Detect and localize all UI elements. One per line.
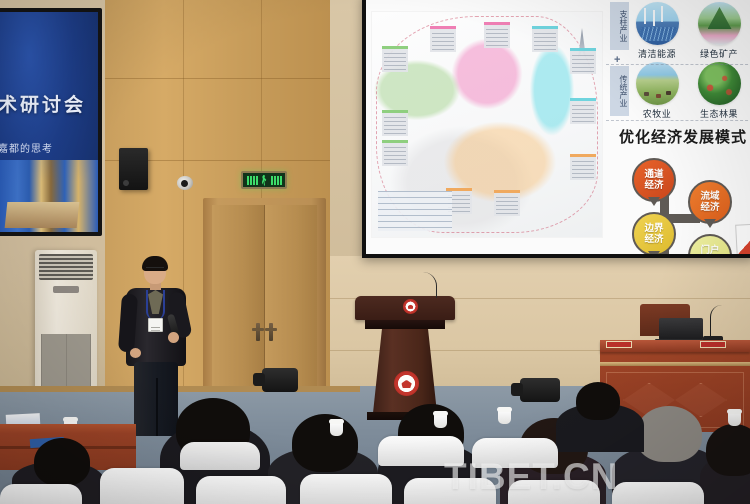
institution-emblem-icon (394, 371, 419, 396)
audience-chair[interactable] (0, 484, 82, 504)
door-leaf-right[interactable] (265, 205, 318, 386)
economy-model-diagram: 通道 经济 流域 经济 边界 经济 门户 经济 (612, 150, 750, 254)
bubble-line-1: 门户 (700, 245, 719, 254)
photographer-head (576, 382, 620, 420)
attendee-head (34, 438, 90, 486)
tea-cup (498, 410, 511, 424)
wall-speaker-icon (119, 148, 148, 190)
ac-grill (39, 254, 93, 280)
attendee-head (292, 414, 358, 472)
dslr-camera-icon (520, 378, 560, 402)
door-leaf-left[interactable] (212, 205, 265, 386)
map-callout-box (570, 154, 596, 180)
industry-cell-eco-forestry: 生态林果 (690, 62, 748, 120)
pillar-industry-label: 支柱产业 (610, 2, 629, 50)
site-watermark: TIBET.CN (444, 456, 750, 498)
map-legend (378, 191, 452, 231)
bubble-gateway-economy: 门户 经济 (688, 234, 732, 254)
map-callout-box (484, 22, 510, 48)
bubble-line-1: 流域 (700, 191, 719, 202)
map-callout-box (532, 26, 558, 52)
presenter-hand-left (130, 348, 141, 358)
lectern-top (355, 296, 455, 320)
map-callout-box (382, 140, 408, 166)
projection-screen[interactable]: 支柱产业 + 传统产业 清洁能源 绿色矿产 农牧业 (362, 0, 750, 258)
industry-label: 绿色矿产 (690, 47, 748, 60)
red-card-graphic (735, 223, 750, 254)
map-callout-box (382, 46, 408, 72)
bubble-line-1: 边界 (644, 223, 663, 234)
presenter-lanyard (146, 290, 165, 320)
traditional-industry-label: 传统产业 (610, 66, 629, 116)
projected-slide: 支柱产业 + 传统产业 清洁能源 绿色矿产 农牧业 (366, 0, 750, 254)
agriculture-livestock-icon (636, 62, 679, 105)
industry-label: 清洁能源 (628, 47, 686, 60)
presenter-hand-right (168, 332, 179, 343)
institution-emblem-icon (403, 299, 418, 314)
bubble-line-2: 经济 (644, 234, 663, 245)
bubble-corridor-economy: 通道 经济 (632, 158, 676, 202)
exit-sign-text-right (271, 176, 282, 185)
running-man-icon (260, 175, 269, 186)
left-slide-photo (0, 160, 98, 232)
industry-label: 生态林果 (690, 107, 748, 120)
tea-cup (330, 422, 343, 436)
bubble-border-economy: 边界 经济 (632, 212, 676, 254)
industry-cell-green-mineral: 绿色矿产 (690, 2, 748, 60)
map-callout-box (570, 48, 596, 74)
map-callout-box (570, 98, 596, 124)
slide-divider-top (606, 64, 750, 65)
clean-energy-icon (636, 2, 679, 45)
eco-forestry-icon (698, 62, 741, 105)
exit-sign-text-left (247, 176, 258, 185)
attendee-head-grey-hair (636, 406, 702, 462)
dome-security-camera-icon (177, 176, 193, 190)
door-handle-left[interactable] (256, 323, 260, 341)
eyeglasses-icon (146, 267, 164, 271)
ac-vent (53, 286, 79, 293)
map-callout-box (430, 26, 456, 52)
gooseneck-microphone-icon (710, 305, 726, 339)
door-recess (212, 205, 317, 386)
name-plate (606, 341, 632, 348)
audience-chair[interactable] (100, 468, 184, 504)
desk-trim-rail (600, 362, 750, 366)
tea-cup (728, 412, 741, 426)
slide-headline: 优化经济发展模式 (610, 126, 750, 147)
laptop[interactable] (659, 318, 703, 340)
exit-sign (241, 171, 287, 189)
conference-room-photo: 术研讨会 嘉都的思考 (0, 0, 750, 504)
door-handle-right[interactable] (269, 323, 273, 341)
presenter-legs (134, 362, 178, 436)
map-callout-box (494, 190, 520, 216)
green-mineral-icon (698, 2, 741, 45)
bubble-basin-economy: 流域 经济 (688, 180, 732, 224)
left-slide-subtitle: 嘉都的思考 (0, 140, 102, 155)
industry-icon-grid: 清洁能源 绿色矿产 农牧业 生态林果 (628, 2, 750, 120)
left-slide-title: 术研讨会 (0, 90, 102, 117)
audience-chair[interactable] (196, 476, 286, 504)
bubble-line-1: 通道 (644, 169, 663, 180)
slide-divider (606, 120, 750, 121)
presenter-badge (148, 318, 163, 332)
audience-chair[interactable] (300, 474, 392, 504)
double-door[interactable] (203, 198, 326, 386)
bubble-line-2: 经济 (644, 180, 663, 191)
map-callout-box (382, 110, 408, 136)
industry-cell-agriculture: 农牧业 (628, 62, 686, 120)
tea-cup (434, 414, 447, 428)
left-display-screen[interactable]: 术研讨会 嘉都的思考 (0, 8, 102, 236)
name-plate (700, 341, 726, 348)
video-camera (262, 368, 298, 392)
lectern-band (365, 320, 445, 329)
lectern-body (373, 329, 437, 413)
region-map (372, 12, 602, 237)
audience-chair[interactable] (180, 442, 260, 470)
industry-label: 农牧业 (628, 107, 686, 120)
lectern[interactable] (355, 296, 455, 420)
industry-cell-clean-energy: 清洁能源 (628, 2, 686, 60)
bubble-line-2: 经济 (700, 202, 719, 213)
